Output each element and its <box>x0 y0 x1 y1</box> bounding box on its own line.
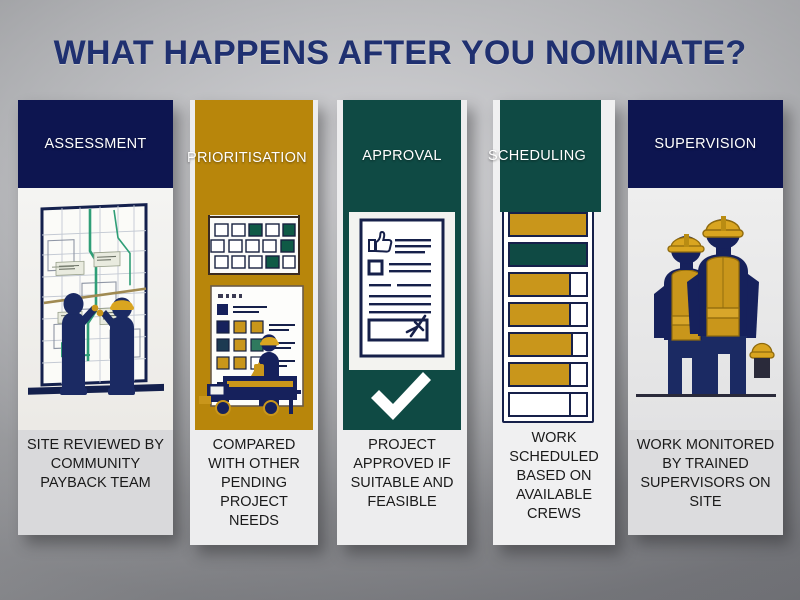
schedule-row <box>508 332 588 357</box>
schedule-row-fill <box>510 274 571 295</box>
step-illustration-assessment <box>18 188 173 430</box>
schedule-row <box>508 302 588 327</box>
step-card-assessment: ASSESSMENT <box>18 100 173 535</box>
page-title: WHAT HAPPENS AFTER YOU NOMINATE? <box>0 34 800 73</box>
checkbox-icon <box>369 261 382 274</box>
schedule-row-fill <box>510 244 586 265</box>
step-header-label: SUPERVISION <box>654 136 756 152</box>
site-plan-review-illustration <box>18 188 173 430</box>
schedule-row-fill <box>510 214 586 235</box>
step-illustration-supervision <box>628 188 783 430</box>
schedule-row <box>508 272 588 297</box>
schedule-row-fill <box>510 394 571 415</box>
step-header-label: APPROVAL <box>362 148 442 164</box>
infographic-poster: WHAT HAPPENS AFTER YOU NOMINATE? ASSESSM… <box>0 0 800 600</box>
schedule-calendar <box>502 205 594 423</box>
step-caption-supervision: WORK MONITORED BY TRAINED SUPERVISORS ON… <box>628 432 783 512</box>
step-header-label: ASSESSMENT <box>44 136 146 152</box>
step-card-supervision: SUPERVISION <box>628 100 783 535</box>
step-caption-scheduling: WORK SCHEDULED BASED ON AVAILABLE CREWS <box>493 425 615 524</box>
step-header-label: SCHEDULING <box>488 148 586 164</box>
step-header-scheduling: SCHEDULING <box>500 100 601 212</box>
step-header-label: PRIORITISATION <box>187 150 307 166</box>
supervisors-illustration <box>628 188 783 430</box>
schedule-row <box>508 242 588 267</box>
step-card-approval: APPROVAL PROJECT APPROVED IF SUITABLE AN… <box>337 100 467 545</box>
step-header-assessment: ASSESSMENT <box>18 100 173 188</box>
schedule-row <box>508 362 588 387</box>
schedule-row <box>508 212 588 237</box>
step-header-prioritisation: PRIORITISATION <box>195 100 313 215</box>
step-card-scheduling: SCHEDULING WORK SCHEDULED BASED ON AVAIL… <box>493 100 615 545</box>
step-caption-approval: PROJECT APPROVED IF SUITABLE AND FEASIBL… <box>337 432 467 512</box>
step-card-prioritisation: PRIORITISATION COMPARED WITH OTHER PENDI… <box>190 100 318 545</box>
approved-check-icon <box>371 372 431 420</box>
schedule-row <box>508 392 588 417</box>
step-header-approval: APPROVAL <box>343 100 461 212</box>
schedule-row-fill <box>510 334 573 355</box>
step-caption-prioritisation: COMPARED WITH OTHER PENDING PROJECT NEED… <box>190 432 318 531</box>
schedule-row-fill <box>510 364 571 385</box>
schedule-row-fill <box>510 304 571 325</box>
step-header-supervision: SUPERVISION <box>628 100 783 188</box>
board-top-panel <box>209 206 299 274</box>
step-caption-assessment: SITE REVIEWED BY COMMUNITY PAYBACK TEAM <box>18 432 173 493</box>
